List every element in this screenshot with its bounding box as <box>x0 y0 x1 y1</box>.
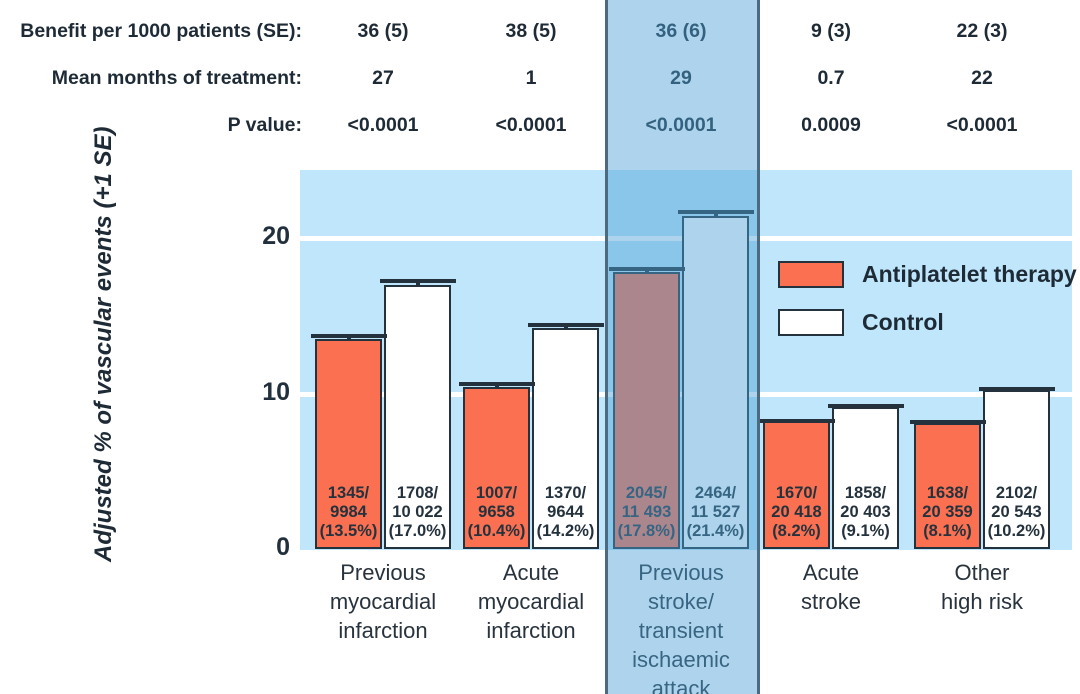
bar-control: 2102/20 543(10.2%) <box>983 390 1050 549</box>
bar-value-label-line: 1638/ <box>916 484 979 503</box>
bar-value-label: 2464/11 527(21.4%) <box>684 484 747 541</box>
bar-value-label-line: 10 022 <box>386 503 449 522</box>
bar-value-label: 2045/11 493(17.8%) <box>615 484 678 541</box>
bar-value-label-line: 20 543 <box>985 503 1048 522</box>
bar-value-label-line: 1370/ <box>534 484 597 503</box>
bar-value-label-line: 1345/ <box>317 484 380 503</box>
header-row-label: Benefit per 1000 patients (SE): <box>0 8 312 54</box>
header-cell: <0.0001 <box>456 102 606 148</box>
legend-item: Control <box>778 303 1077 341</box>
y-axis-label: Adjusted % of vascular events (+1 SE) <box>90 142 118 562</box>
header-row-label: P value: <box>0 102 312 148</box>
bar-control: 1370/9644(14.2%) <box>532 328 599 549</box>
error-bar-stem <box>645 267 649 273</box>
header-row: Mean months of treatment:271290.722 <box>0 55 1080 101</box>
category-label-line: transient <box>591 616 771 645</box>
error-bar-stem <box>347 334 351 339</box>
bar-value-label-line: 2045/ <box>615 484 678 503</box>
header-row-label: Mean months of treatment: <box>0 55 312 101</box>
bar-value-label: 1670/20 418(8.2%) <box>765 484 828 541</box>
legend-swatch-icon <box>778 261 844 288</box>
category-label-4: Otherhigh risk <box>892 558 1072 616</box>
error-bar-stem <box>416 279 420 285</box>
bar-value-label-line: 11 493 <box>615 503 678 522</box>
header-cell: 22 (3) <box>907 8 1057 54</box>
bar-antiplatelet: 2045/11 493(17.8%) <box>613 272 680 549</box>
bar-value-label-line: 9644 <box>534 503 597 522</box>
bar-value-label-line: 1708/ <box>386 484 449 503</box>
header-cell: 29 <box>606 55 756 101</box>
error-bar-stem <box>864 404 868 407</box>
y-tick-label: 10 <box>232 378 290 407</box>
header-cell: 22 <box>907 55 1057 101</box>
figure-root: Benefit per 1000 patients (SE):36 (5)38 … <box>0 0 1080 694</box>
bar-value-label-line: 1007/ <box>465 484 528 503</box>
bar-value-label-line: (17.0%) <box>386 522 449 541</box>
bar-value-label-line: (14.2%) <box>534 522 597 541</box>
bar-value-label-line: (21.4%) <box>684 522 747 541</box>
y-tick-label: 20 <box>232 222 290 251</box>
bar-value-label-line: (17.8%) <box>615 522 678 541</box>
bar-control: 1858/20 403(9.1%) <box>832 407 899 549</box>
bar-value-label: 2102/20 543(10.2%) <box>985 484 1048 541</box>
bar-value-label-line: (8.1%) <box>916 522 979 541</box>
bar-control: 1708/10 022(17.0%) <box>384 285 451 549</box>
category-label-line: attack <box>591 674 771 694</box>
bar-value-label-line: 1858/ <box>834 484 897 503</box>
bar-value-label-line: (10.2%) <box>985 522 1048 541</box>
category-label-line: high risk <box>892 587 1072 616</box>
bar-antiplatelet: 1007/9658(10.4%) <box>463 387 530 549</box>
legend-item: Antiplatelet therapy <box>778 255 1077 293</box>
bar-value-label-line: (9.1%) <box>834 522 897 541</box>
header-cell: 36 (6) <box>606 8 756 54</box>
bar-antiplatelet: 1345/9984(13.5%) <box>315 339 382 549</box>
bar-antiplatelet: 1638/20 359(8.1%) <box>914 423 981 549</box>
header-cell: <0.0001 <box>308 102 458 148</box>
error-bar-stem <box>495 382 499 387</box>
bar-value-label-line: 9658 <box>465 503 528 522</box>
error-bar-stem <box>564 323 568 329</box>
bar-value-label-line: 11 527 <box>684 503 747 522</box>
bar-value-label-line: (10.4%) <box>465 522 528 541</box>
header-cell: <0.0001 <box>907 102 1057 148</box>
bar-value-label-line: 20 403 <box>834 503 897 522</box>
bar-value-label-line: 1670/ <box>765 484 828 503</box>
legend-label: Control <box>862 309 944 336</box>
y-tick-label: 0 <box>232 533 290 562</box>
bar-value-label: 1345/9984(13.5%) <box>317 484 380 541</box>
bar-value-label-line: 20 359 <box>916 503 979 522</box>
error-bar-stem <box>1015 387 1019 390</box>
bar-value-label-line: (13.5%) <box>317 522 380 541</box>
error-bar-stem <box>795 419 799 422</box>
bar-value-label-line: (8.2%) <box>765 522 828 541</box>
bar-antiplatelet: 1670/20 418(8.2%) <box>763 421 830 549</box>
bar-value-label: 1370/9644(14.2%) <box>534 484 597 541</box>
header-cell: 1 <box>456 55 606 101</box>
header-cell: 38 (5) <box>456 8 606 54</box>
legend-swatch-icon <box>778 309 844 336</box>
header-cell: 9 (3) <box>756 8 906 54</box>
bar-value-label-line: 20 418 <box>765 503 828 522</box>
legend: Antiplatelet therapyControl <box>778 255 1077 351</box>
legend-label: Antiplatelet therapy <box>862 261 1077 288</box>
header-cell: <0.0001 <box>606 102 756 148</box>
bar-value-label: 1708/10 022(17.0%) <box>386 484 449 541</box>
category-label-line: ischaemic <box>591 645 771 674</box>
error-bar-stem <box>714 210 718 216</box>
bar-value-label-line: 2464/ <box>684 484 747 503</box>
bar-value-label: 1858/20 403(9.1%) <box>834 484 897 541</box>
bar-value-label: 1007/9658(10.4%) <box>465 484 528 541</box>
header-cell: 27 <box>308 55 458 101</box>
plot-area: 1345/9984(13.5%)1007/9658(10.4%)2045/11 … <box>300 170 1072 550</box>
header-cell: 36 (5) <box>308 8 458 54</box>
bar-value-label-line: 9984 <box>317 503 380 522</box>
bar-value-label: 1638/20 359(8.1%) <box>916 484 979 541</box>
header-cell: 0.7 <box>756 55 906 101</box>
bar-value-label-line: 2102/ <box>985 484 1048 503</box>
error-bar-stem <box>946 420 950 423</box>
header-row: P value:<0.0001<0.0001<0.00010.0009<0.00… <box>0 102 1080 148</box>
header-cell: 0.0009 <box>756 102 906 148</box>
bar-control: 2464/11 527(21.4%) <box>682 216 749 549</box>
header-row: Benefit per 1000 patients (SE):36 (5)38 … <box>0 8 1080 54</box>
category-label-line: Other <box>892 558 1072 587</box>
